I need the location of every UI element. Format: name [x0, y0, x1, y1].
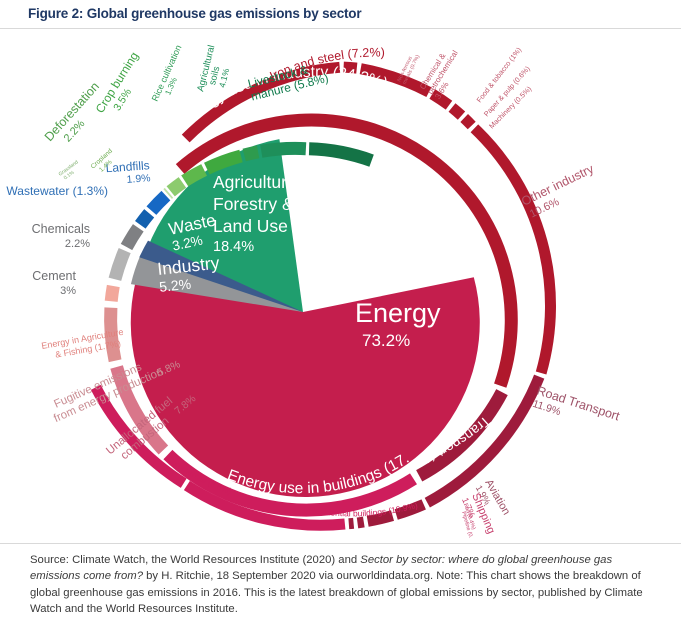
ring-rice-cultivation[interactable]: [244, 152, 258, 155]
label-energy: Energy: [355, 298, 441, 328]
ring-rail[interactable]: [358, 522, 364, 523]
footer-divider: [0, 543, 681, 544]
label-industry-pct: 5.2%: [158, 276, 191, 295]
ring-machinery[interactable]: [464, 118, 472, 126]
label-agriculture-l1: Agriculture,: [213, 172, 302, 192]
ring-landfills[interactable]: [151, 196, 166, 211]
ring-agricultural-soils[interactable]: [261, 148, 306, 151]
label-agriculture-pct: 18.4%: [213, 239, 254, 255]
ring-livestock-manure[interactable]: [309, 149, 372, 161]
title-divider: [0, 28, 681, 29]
ring-wastewater[interactable]: [140, 213, 149, 225]
label-chemicals-pct: 2.2%: [65, 238, 90, 250]
page-title: Figure 2: Global greenhouse gas emission…: [28, 6, 361, 21]
emissions-sunburst-chart: Energy 73.2% Agriculture, Forestry & Lan…: [0, 30, 681, 538]
label-landfills-pct: 1.9%: [126, 172, 151, 186]
label-cement-pct: 3%: [60, 285, 76, 297]
ring-energy-in-agriculture-fishing[interactable]: [111, 286, 113, 301]
label-cement: Cement: [32, 269, 76, 283]
source-note: Source: Climate Watch, the World Resourc…: [30, 552, 652, 618]
label-chemicals: Chemicals: [32, 222, 90, 236]
ring-cropland[interactable]: [171, 182, 183, 191]
source-note-part1: Source: Climate Watch, the World Resourc…: [30, 554, 360, 566]
ring-paper-pulp[interactable]: [452, 108, 462, 116]
label-agriculture-l3: Land Use: [213, 216, 288, 236]
ring-cement[interactable]: [115, 251, 125, 280]
chart-canvas: Energy 73.2% Agriculture, Forestry & Lan…: [0, 30, 681, 538]
label-wastewater: Wastewater (1.3%): [6, 184, 108, 198]
ring-grassland[interactable]: [168, 193, 169, 194]
ring-chemicals[interactable]: [127, 228, 139, 247]
label-energy-pct: 73.2%: [362, 331, 410, 350]
label-agriculture-l2: Forestry &: [213, 194, 294, 214]
